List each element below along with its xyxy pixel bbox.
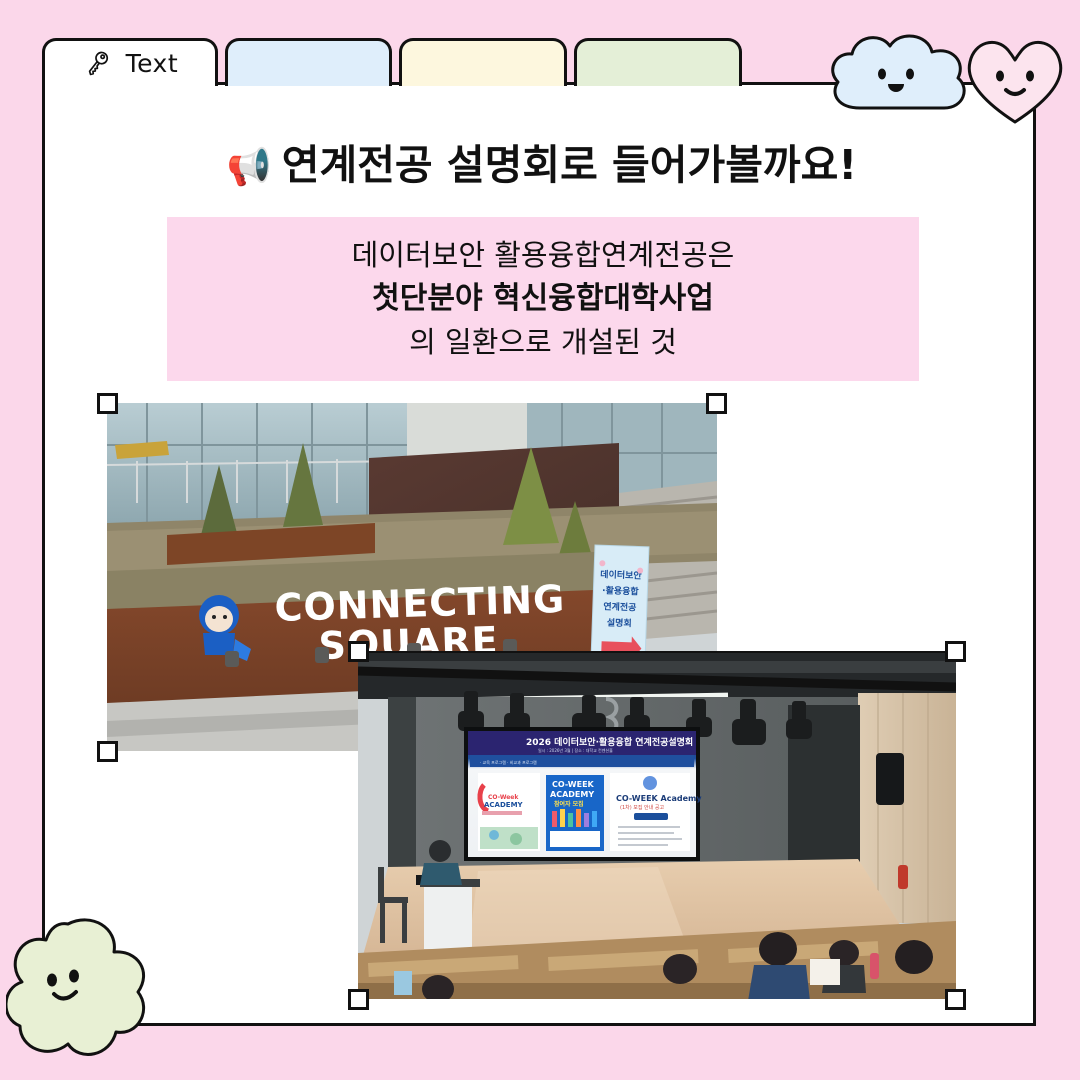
svg-text:ACADEMY: ACADEMY — [484, 801, 524, 809]
photo1-handle-tr[interactable] — [706, 393, 727, 414]
svg-text:CO-Week: CO-Week — [488, 794, 519, 801]
tab-text-label: Text — [126, 49, 179, 78]
tab-text[interactable]: Text — [42, 38, 218, 86]
tab-cream[interactable] — [399, 38, 567, 86]
svg-text:· 교육 프로그램 · 비교과 프로그램: · 교육 프로그램 · 비교과 프로그램 — [480, 759, 537, 765]
tab-blue[interactable] — [225, 38, 393, 86]
svg-text:일시 : 2026년 3월 | 장소 : 대학교 컨벤션홀: 일시 : 2026년 3월 | 장소 : 대학교 컨벤션홀 — [538, 747, 613, 753]
tab-bar: Text — [42, 38, 742, 86]
highlight-line-3: 의 일환으로 개설된 것 — [409, 323, 677, 362]
megaphone-icon: 📢 — [227, 147, 272, 188]
slide-canvas: 📢연계전공 설명회로 들어가볼까요! 데이터보안 활용융합연계전공은 첫단분야 … — [0, 0, 1080, 1080]
cloud-character-green — [6, 908, 172, 1068]
heart-character-pink — [960, 30, 1070, 126]
screen-title: 2026 데이터보안·활용융합 연계전공설명회 — [526, 736, 693, 748]
photo2-handle-bl[interactable] — [348, 989, 369, 1010]
highlight-line-1: 데이터보안 활용융합연계전공은 — [352, 236, 735, 275]
tab-green[interactable] — [574, 38, 742, 86]
svg-text:참여자 모집: 참여자 모집 — [554, 800, 584, 808]
svg-text:CO-WEEK: CO-WEEK — [552, 780, 595, 789]
cloud-character-blue — [826, 26, 976, 118]
key-icon — [82, 49, 112, 79]
page-title-text: 연계전공 설명회로 들어가볼까요! — [282, 141, 857, 189]
svg-text:(1차) 모집 안내 공고: (1차) 모집 안내 공고 — [620, 804, 664, 811]
photo2-handle-br[interactable] — [945, 989, 966, 1010]
banner-line-4: 설명회 — [607, 616, 632, 629]
highlight-box: 데이터보안 활용융합연계전공은 첫단분야 혁신융합대학사업 의 일환으로 개설된… — [167, 217, 919, 381]
svg-text:ACADEMY: ACADEMY — [550, 790, 594, 799]
photo1-handle-bl[interactable] — [97, 741, 118, 762]
photo2-handle-tr[interactable] — [945, 641, 966, 662]
photo1-handle-tl[interactable] — [97, 393, 118, 414]
photo2-handle-tl[interactable] — [348, 641, 369, 662]
highlight-line-2: 첫단분야 혁신융합대학사업 — [372, 279, 714, 319]
lecture-hall-image: GOOD LAB — [358, 653, 956, 999]
page-title: 📢연계전공 설명회로 들어가볼까요! — [45, 131, 1039, 191]
lecture-hall-photo[interactable]: GOOD LAB — [358, 651, 956, 999]
content-card: 📢연계전공 설명회로 들어가볼까요! 데이터보안 활용융합연계전공은 첫단분야 … — [42, 82, 1036, 1026]
svg-text:CO-WEEK Academy: CO-WEEK Academy — [616, 794, 702, 803]
